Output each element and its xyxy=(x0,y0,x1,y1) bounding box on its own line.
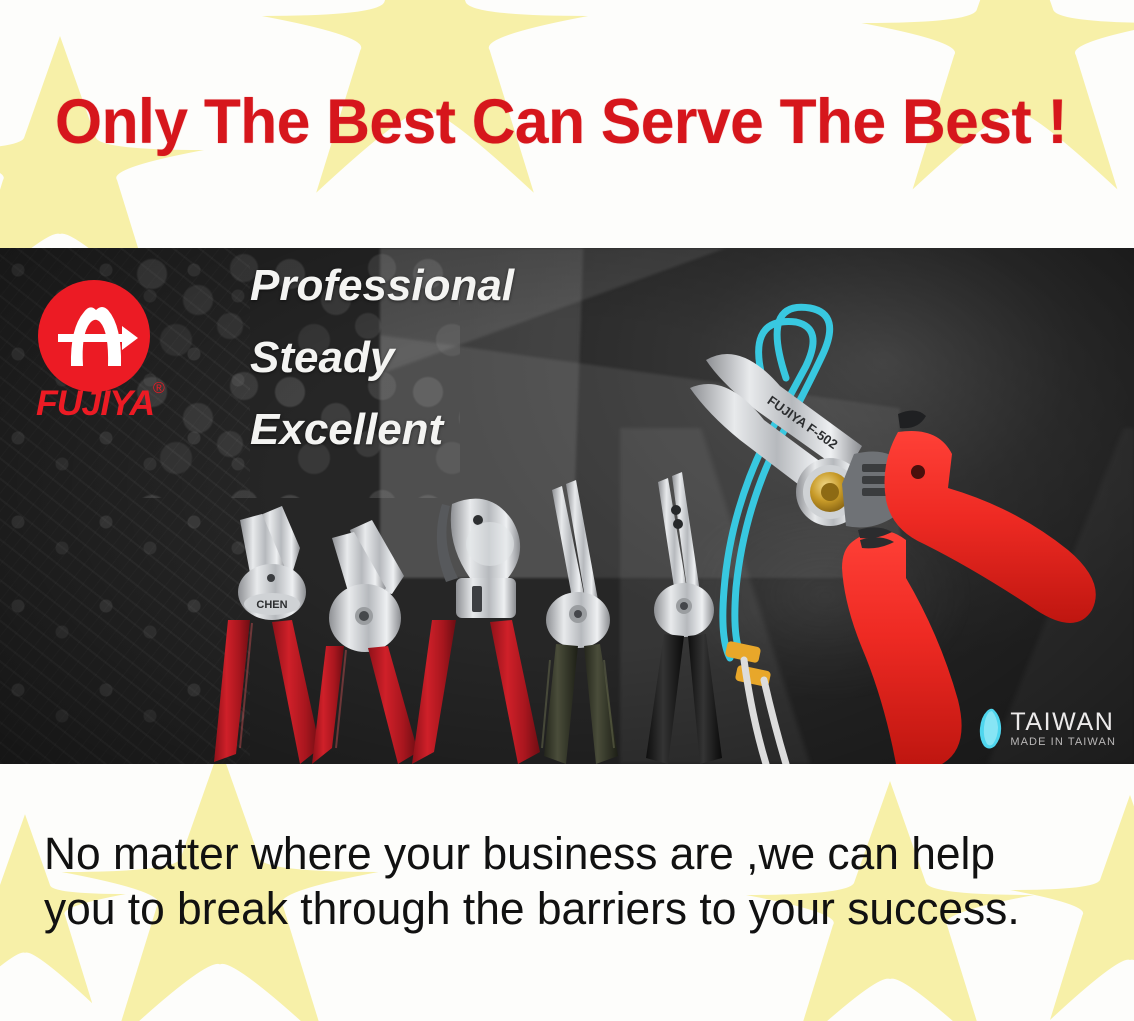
registered-mark-icon: ® xyxy=(153,380,165,398)
headline-section: Only The Best Can Serve The Best ! xyxy=(0,0,1134,248)
bottom-message-line-2: you to break through the barriers to you… xyxy=(44,881,1088,936)
bottom-message: No matter where your business are ,we ca… xyxy=(44,826,1088,936)
tagline-group: Professional Steady Excellent xyxy=(250,264,514,452)
fujiya-arrow-logo-icon xyxy=(38,280,150,392)
svg-text:CHEN: CHEN xyxy=(256,599,287,611)
bottom-message-line-1: No matter where your business are ,we ca… xyxy=(44,826,1088,881)
product-hero-banner: CHEN xyxy=(0,248,1134,764)
tool-long-nose-pliers-black xyxy=(646,472,722,764)
made-in-taiwan-badge: TAIWAN MADE IN TAIWAN xyxy=(977,708,1116,750)
tool-diagonal-cutting-pliers xyxy=(312,520,418,764)
bottom-message-section: No matter where your business are ,we ca… xyxy=(0,764,1134,1021)
tool-cable-cutter xyxy=(412,499,540,764)
tagline-excellent: Excellent xyxy=(250,408,514,452)
tools-illustration: CHEN xyxy=(0,248,1134,764)
taiwan-label: TAIWAN xyxy=(1010,710,1116,735)
tool-long-nose-pliers-olive xyxy=(542,480,618,764)
advertisement-banner: Only The Best Can Serve The Best ! xyxy=(0,0,1134,1021)
logo-wordmark: FUJIYA xyxy=(36,384,154,424)
taiwan-island-icon xyxy=(977,708,1003,750)
tool-combination-pliers: CHEN xyxy=(214,506,320,764)
made-in-taiwan-label: MADE IN TAIWAN xyxy=(1010,735,1116,749)
page-title: Only The Best Can Serve The Best ! xyxy=(55,86,1067,158)
tagline-professional: Professional xyxy=(250,264,514,308)
fujiya-logo: FUJIYA ® xyxy=(38,280,168,430)
tagline-steady: Steady xyxy=(250,336,514,380)
